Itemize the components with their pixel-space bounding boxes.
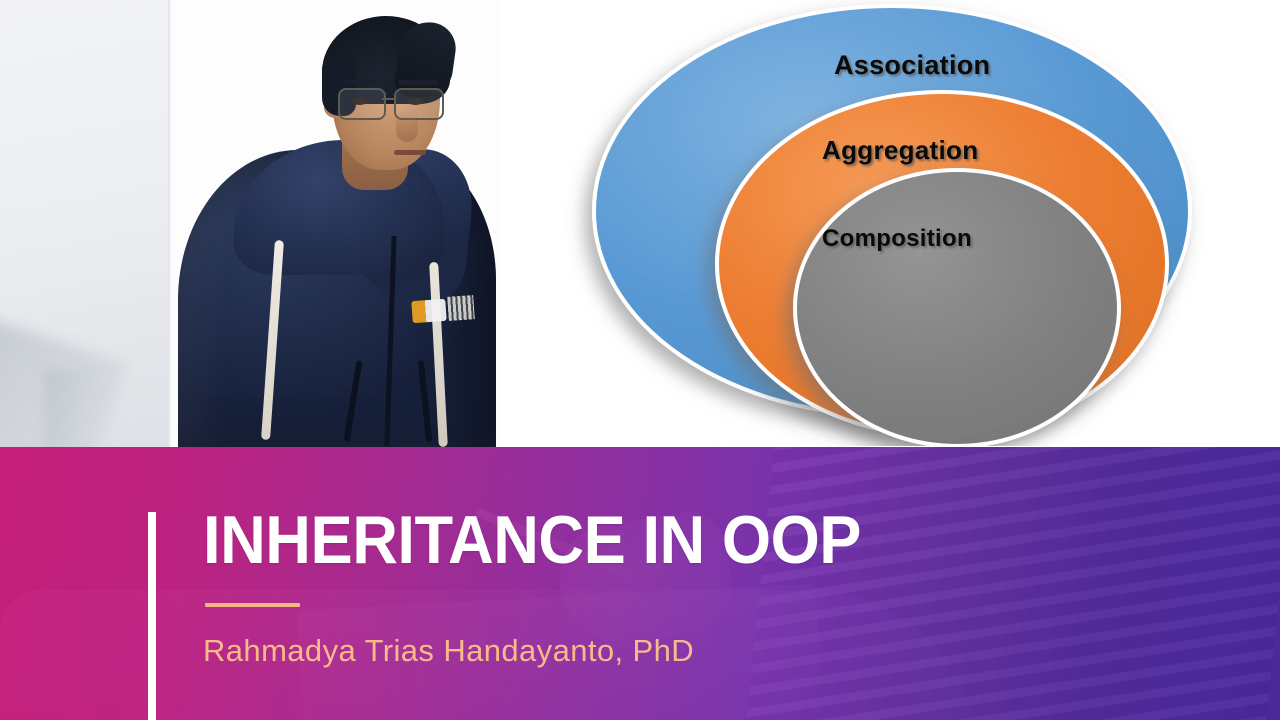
slide-root: Association Aggregation Composition INHE… — [0, 0, 1280, 720]
mouth — [394, 150, 426, 155]
ring-label-aggregation: Aggregation — [822, 135, 978, 166]
nose — [396, 110, 418, 142]
eyebrow-right — [398, 80, 438, 85]
page-title: INHERITANCE IN OOP — [203, 501, 861, 579]
presenter-photo — [172, 0, 502, 447]
ring-label-association: Association — [834, 50, 990, 81]
lens-left — [338, 88, 386, 120]
oop-relationship-diagram: Association Aggregation Composition — [502, 0, 1280, 447]
title-underline-rule — [205, 603, 300, 607]
presenter-name: Rahmadya Trias Handayanto, PhD — [203, 632, 694, 670]
ring-label-composition: Composition — [822, 225, 972, 253]
eyeglasses — [338, 88, 444, 118]
ring-composition — [795, 170, 1119, 446]
title-accent-bar — [148, 512, 156, 720]
background-wall-panel — [0, 0, 172, 447]
title-banner — [0, 447, 1280, 720]
jacket-badge-secondary — [447, 295, 475, 321]
top-content-area: Association Aggregation Composition — [0, 0, 1280, 447]
presenter-figure — [172, 0, 502, 447]
banner-background-photo — [0, 447, 1280, 720]
jacket-badge — [411, 299, 446, 323]
eyebrow-left — [342, 80, 378, 85]
